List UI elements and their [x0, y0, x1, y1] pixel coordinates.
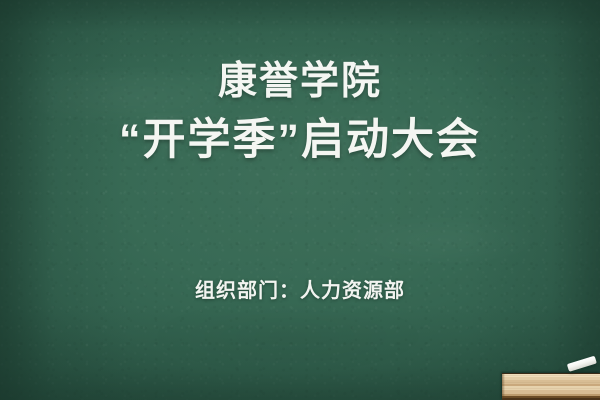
title-block: 康誉学院 “开学季”启动大会	[0, 58, 600, 168]
slide-title-line-1: 康誉学院	[0, 58, 600, 106]
slide-title-line-2: “开学季”启动大会	[0, 114, 600, 167]
slide-subtitle: 组织部门：人力资源部	[0, 274, 600, 303]
chalk-tray-icon	[502, 373, 600, 400]
presentation-title-slide: 康誉学院 “开学季”启动大会 组织部门：人力资源部	[0, 0, 600, 400]
chalk-tray-left-edge	[502, 374, 505, 399]
wood-grain-texture	[502, 373, 600, 400]
